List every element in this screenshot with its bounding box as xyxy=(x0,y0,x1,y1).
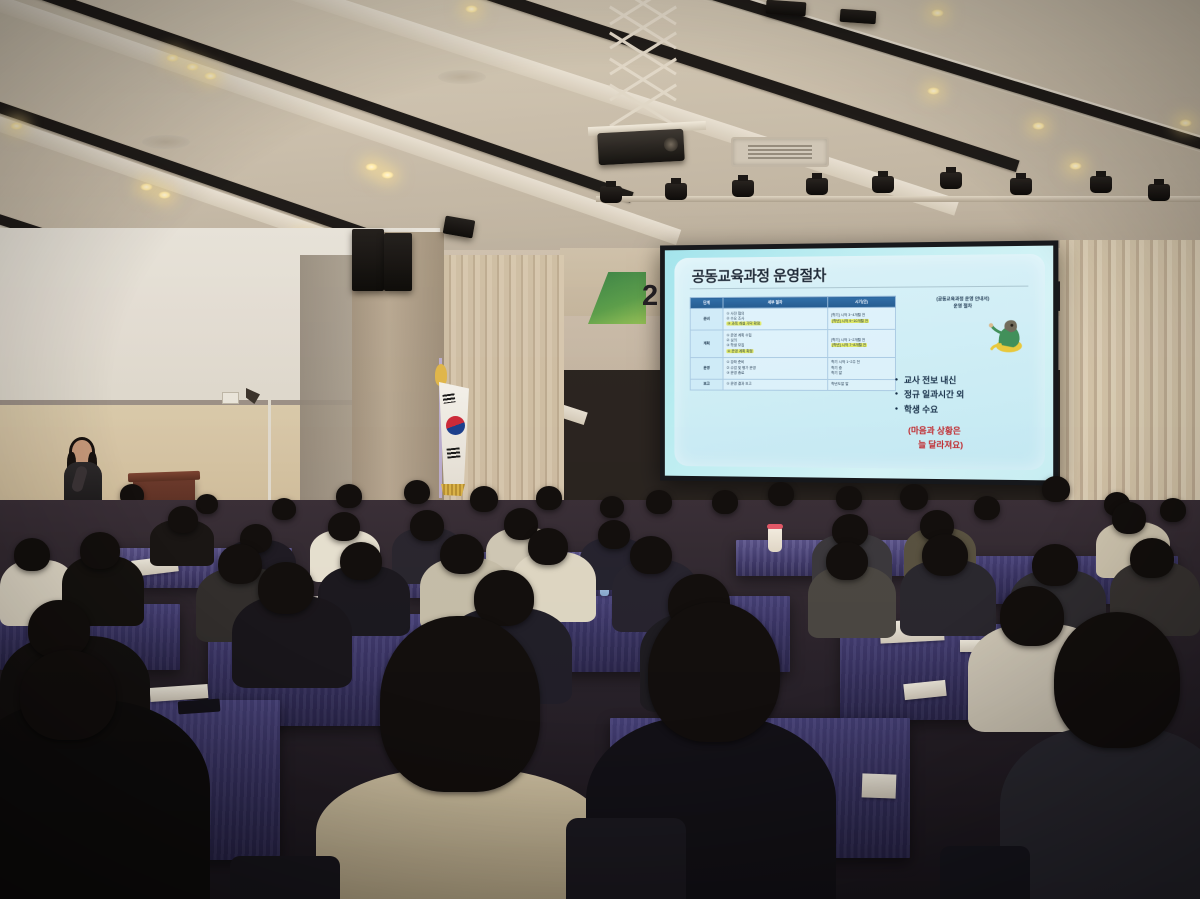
ceiling-spotlight xyxy=(465,5,478,13)
projector-scissor-lift xyxy=(604,0,690,130)
paper-cup xyxy=(768,528,782,552)
table-cell-steps: ① 운영 계획 수립② 심의③ 학생 모집④ 운영 계획 확정 xyxy=(723,330,828,358)
slide-bullet-list: 교사 전보 내신정규 일과시간 외학생 수요 xyxy=(888,373,1041,419)
projection-screen: 공동교육과정 운영절차 단계 세부 절차 시기(안) 준비① 사전 협의② 수요… xyxy=(660,240,1058,485)
flag-trigram-bottom xyxy=(447,447,461,458)
audience-head xyxy=(600,496,624,518)
ceiling-spotlight xyxy=(1179,119,1192,127)
ceiling-ac-vent xyxy=(731,137,829,167)
mic-stand-pole xyxy=(268,398,271,506)
audience-head xyxy=(340,542,382,580)
chair-back xyxy=(566,818,686,899)
projector-lens-icon xyxy=(664,137,679,152)
audience-head xyxy=(258,562,314,614)
stage-par-light xyxy=(940,172,962,189)
table-row: 운영① 강좌 준비② 수업 및 평가 운영③ 운영 종료학기 시작 1~2주 전… xyxy=(690,357,895,379)
slide-bullet-item: 교사 전보 내신 xyxy=(904,373,1041,388)
audience-head xyxy=(1032,544,1078,586)
table-header-steps: 세부 절차 xyxy=(723,297,828,309)
ceiling-spotlight xyxy=(204,72,217,80)
table-cell-stage: 계획 xyxy=(690,330,723,357)
table-header-when: 시기(안) xyxy=(828,296,896,307)
stage-par-light xyxy=(1010,178,1032,195)
stage-par-light xyxy=(1090,176,1112,193)
timing-line: [학년] 시작 9~10개월 전 xyxy=(831,318,892,324)
audience-head xyxy=(900,484,928,510)
audience-head xyxy=(410,510,444,541)
table-cell-timing: 학년도말 말 xyxy=(828,379,896,391)
stage-par-light xyxy=(806,178,828,195)
table-row: 준비① 사전 협의② 수요 조사③ 과목 개설 가닥 확정[학기] 시작 3~4… xyxy=(690,307,895,330)
flag-fringe xyxy=(441,484,465,496)
audience-head xyxy=(1160,498,1186,522)
audience-head xyxy=(218,544,262,584)
audience-head xyxy=(598,520,630,549)
wall-outlet xyxy=(222,392,239,404)
table-cell-stage: 보고 xyxy=(690,379,723,390)
ceiling-spotlight xyxy=(166,54,179,62)
timing-line: 학년도말 말 xyxy=(831,382,892,388)
audience-head xyxy=(14,538,50,571)
audience-body-foreground xyxy=(1000,726,1200,899)
ceiling-spotlight xyxy=(931,9,944,17)
timing-line: 학기 말 xyxy=(831,371,892,376)
audience-head-foreground xyxy=(20,650,116,740)
audience-head xyxy=(826,542,868,580)
stage-par-light xyxy=(732,180,754,197)
highlighted-text: ③ 과목 개설 가닥 확정 xyxy=(726,322,761,326)
procedure-step: ③ 운영 종료 xyxy=(726,371,824,376)
table-row: 보고① 운영 결과 보고학년도말 말 xyxy=(690,379,895,391)
audience-head xyxy=(974,496,1000,520)
audience-head xyxy=(836,486,862,510)
side-caption-line-2: 운영 절차 xyxy=(888,302,1039,310)
table-cell-steps: ① 강좌 준비② 수업 및 평가 운영③ 운영 종료 xyxy=(723,357,828,379)
slide-red-note: (마음과 상황은 늘 달라져요) xyxy=(888,424,1041,453)
slide-side-caption: (공동교육과정 운영 안내서) 운영 절차 xyxy=(888,295,1039,311)
ceiling-spotlight xyxy=(1032,122,1045,130)
flag-trigram-top xyxy=(442,393,455,404)
table-cell-stage: 준비 xyxy=(690,308,723,330)
slide-title-divider xyxy=(690,286,1029,290)
podium-top xyxy=(128,471,200,483)
ceiling-spotlight xyxy=(186,63,199,71)
slide-surface: 공동교육과정 운영절차 단계 세부 절차 시기(안) 준비① 사전 협의② 수요… xyxy=(665,246,1053,481)
slide-card: 공동교육과정 운영절차 단계 세부 절차 시기(안) 준비① 사전 협의② 수요… xyxy=(674,254,1045,470)
stage-par-light xyxy=(600,186,622,203)
ceiling-diffuser-icon xyxy=(142,135,190,149)
audience-head xyxy=(646,490,672,514)
highlighted-text: ④ 운영 계획 확정 xyxy=(726,349,753,353)
ceiling-spotlight xyxy=(381,171,394,179)
audience-head xyxy=(536,486,562,510)
audience-head xyxy=(922,534,968,576)
audience-head xyxy=(1112,502,1146,534)
table-cell-stage: 운영 xyxy=(690,357,723,379)
audience-head xyxy=(336,484,362,508)
table-cell-steps: ① 운영 결과 보고 xyxy=(723,379,828,391)
korean-flag xyxy=(436,368,476,496)
audience-head-foreground xyxy=(648,602,780,742)
handout-paper xyxy=(862,773,897,798)
table-header-stage: 단계 xyxy=(690,297,723,308)
slide-procedure-table: 단계 세부 절차 시기(안) 준비① 사전 협의② 수요 조사③ 과목 개설 가… xyxy=(690,296,896,392)
ceiling-speaker-right xyxy=(766,0,807,16)
audience-head-foreground xyxy=(380,616,540,792)
procedure-step: ④ 운영 계획 확정 xyxy=(726,349,824,354)
audience-head xyxy=(1042,476,1070,502)
audience-head xyxy=(768,482,794,506)
slide-bullet-item: 학생 수요 xyxy=(904,402,1041,418)
chair-back xyxy=(230,856,340,899)
ceiling-spotlight xyxy=(365,163,378,171)
audience-head xyxy=(80,532,120,569)
ceiling-spotlight xyxy=(10,122,23,130)
wall-speaker-left xyxy=(352,229,384,291)
conference-hall-photo: 202 가 연수 공동교육과정 운영절차 xyxy=(0,0,1200,899)
table-cell-timing: 학기 시작 1~2주 전학기 중학기 말 xyxy=(828,357,896,379)
audience-head xyxy=(630,536,672,574)
flag-taeguk-icon xyxy=(446,416,465,435)
wall-speaker-left-2 xyxy=(384,233,412,291)
chair-back xyxy=(940,846,1030,899)
audience-head xyxy=(1000,586,1064,646)
red-note-line-1: (마음과 상황은 xyxy=(908,424,1041,439)
table-cell-timing: [학기] 시작 3~4개월 전[학년] 시작 9~10개월 전 xyxy=(828,307,896,330)
table-body: 준비① 사전 협의② 수요 조사③ 과목 개설 가닥 확정[학기] 시작 3~4… xyxy=(690,307,895,391)
stage-par-light xyxy=(872,176,894,193)
ceiling-speaker-right-2 xyxy=(840,9,877,24)
audience-body-foreground xyxy=(0,700,210,899)
audience-head-foreground xyxy=(1054,612,1180,748)
ceiling-projector xyxy=(597,129,685,165)
audience-head xyxy=(196,494,218,514)
stage-par-light xyxy=(665,183,687,200)
red-note-line-2: 늘 달라져요) xyxy=(908,438,1041,453)
audience-head xyxy=(440,534,484,574)
audience-head xyxy=(528,528,568,565)
audience-head xyxy=(404,480,430,504)
highlighted-text: [학년] 시작 7~8개월 전 xyxy=(831,343,867,347)
ceiling-spotlight xyxy=(927,87,940,95)
procedure-step: ③ 과목 개설 가닥 확정 xyxy=(726,321,824,327)
highlighted-text: [학년] 시작 9~10개월 전 xyxy=(831,319,869,323)
slide-title: 공동교육과정 운영절차 xyxy=(692,264,826,286)
audience-head xyxy=(470,486,498,512)
mascot-character-icon xyxy=(983,313,1026,356)
audience-head xyxy=(168,506,198,533)
ceiling-spotlight xyxy=(1069,162,1082,170)
audience-head xyxy=(1130,538,1174,578)
ceiling-diffuser-icon xyxy=(438,70,486,84)
audience-head xyxy=(272,498,296,520)
table-cell-steps: ① 사전 협의② 수요 조사③ 과목 개설 가닥 확정 xyxy=(723,308,828,330)
table-row: 계획① 운영 계획 수립② 심의③ 학생 모집④ 운영 계획 확정[학기] 시작… xyxy=(690,330,895,358)
audience-head xyxy=(474,570,534,626)
audience-head xyxy=(28,600,90,658)
slide-bullet-item: 정규 일과시간 외 xyxy=(904,388,1041,404)
stage-curtain-right xyxy=(1060,240,1200,540)
table-cell-timing: [학기] 시작 1~2개월 전[학년] 시작 7~8개월 전 xyxy=(828,330,896,358)
ceiling-spotlight xyxy=(140,183,153,191)
audience-head xyxy=(712,490,738,514)
ceiling-spotlight xyxy=(158,191,171,199)
timing-line: [학년] 시작 7~8개월 전 xyxy=(831,343,892,349)
procedure-step: ① 운영 결과 보고 xyxy=(726,382,824,388)
audience-head xyxy=(328,512,360,541)
stage-par-light xyxy=(1148,184,1170,201)
